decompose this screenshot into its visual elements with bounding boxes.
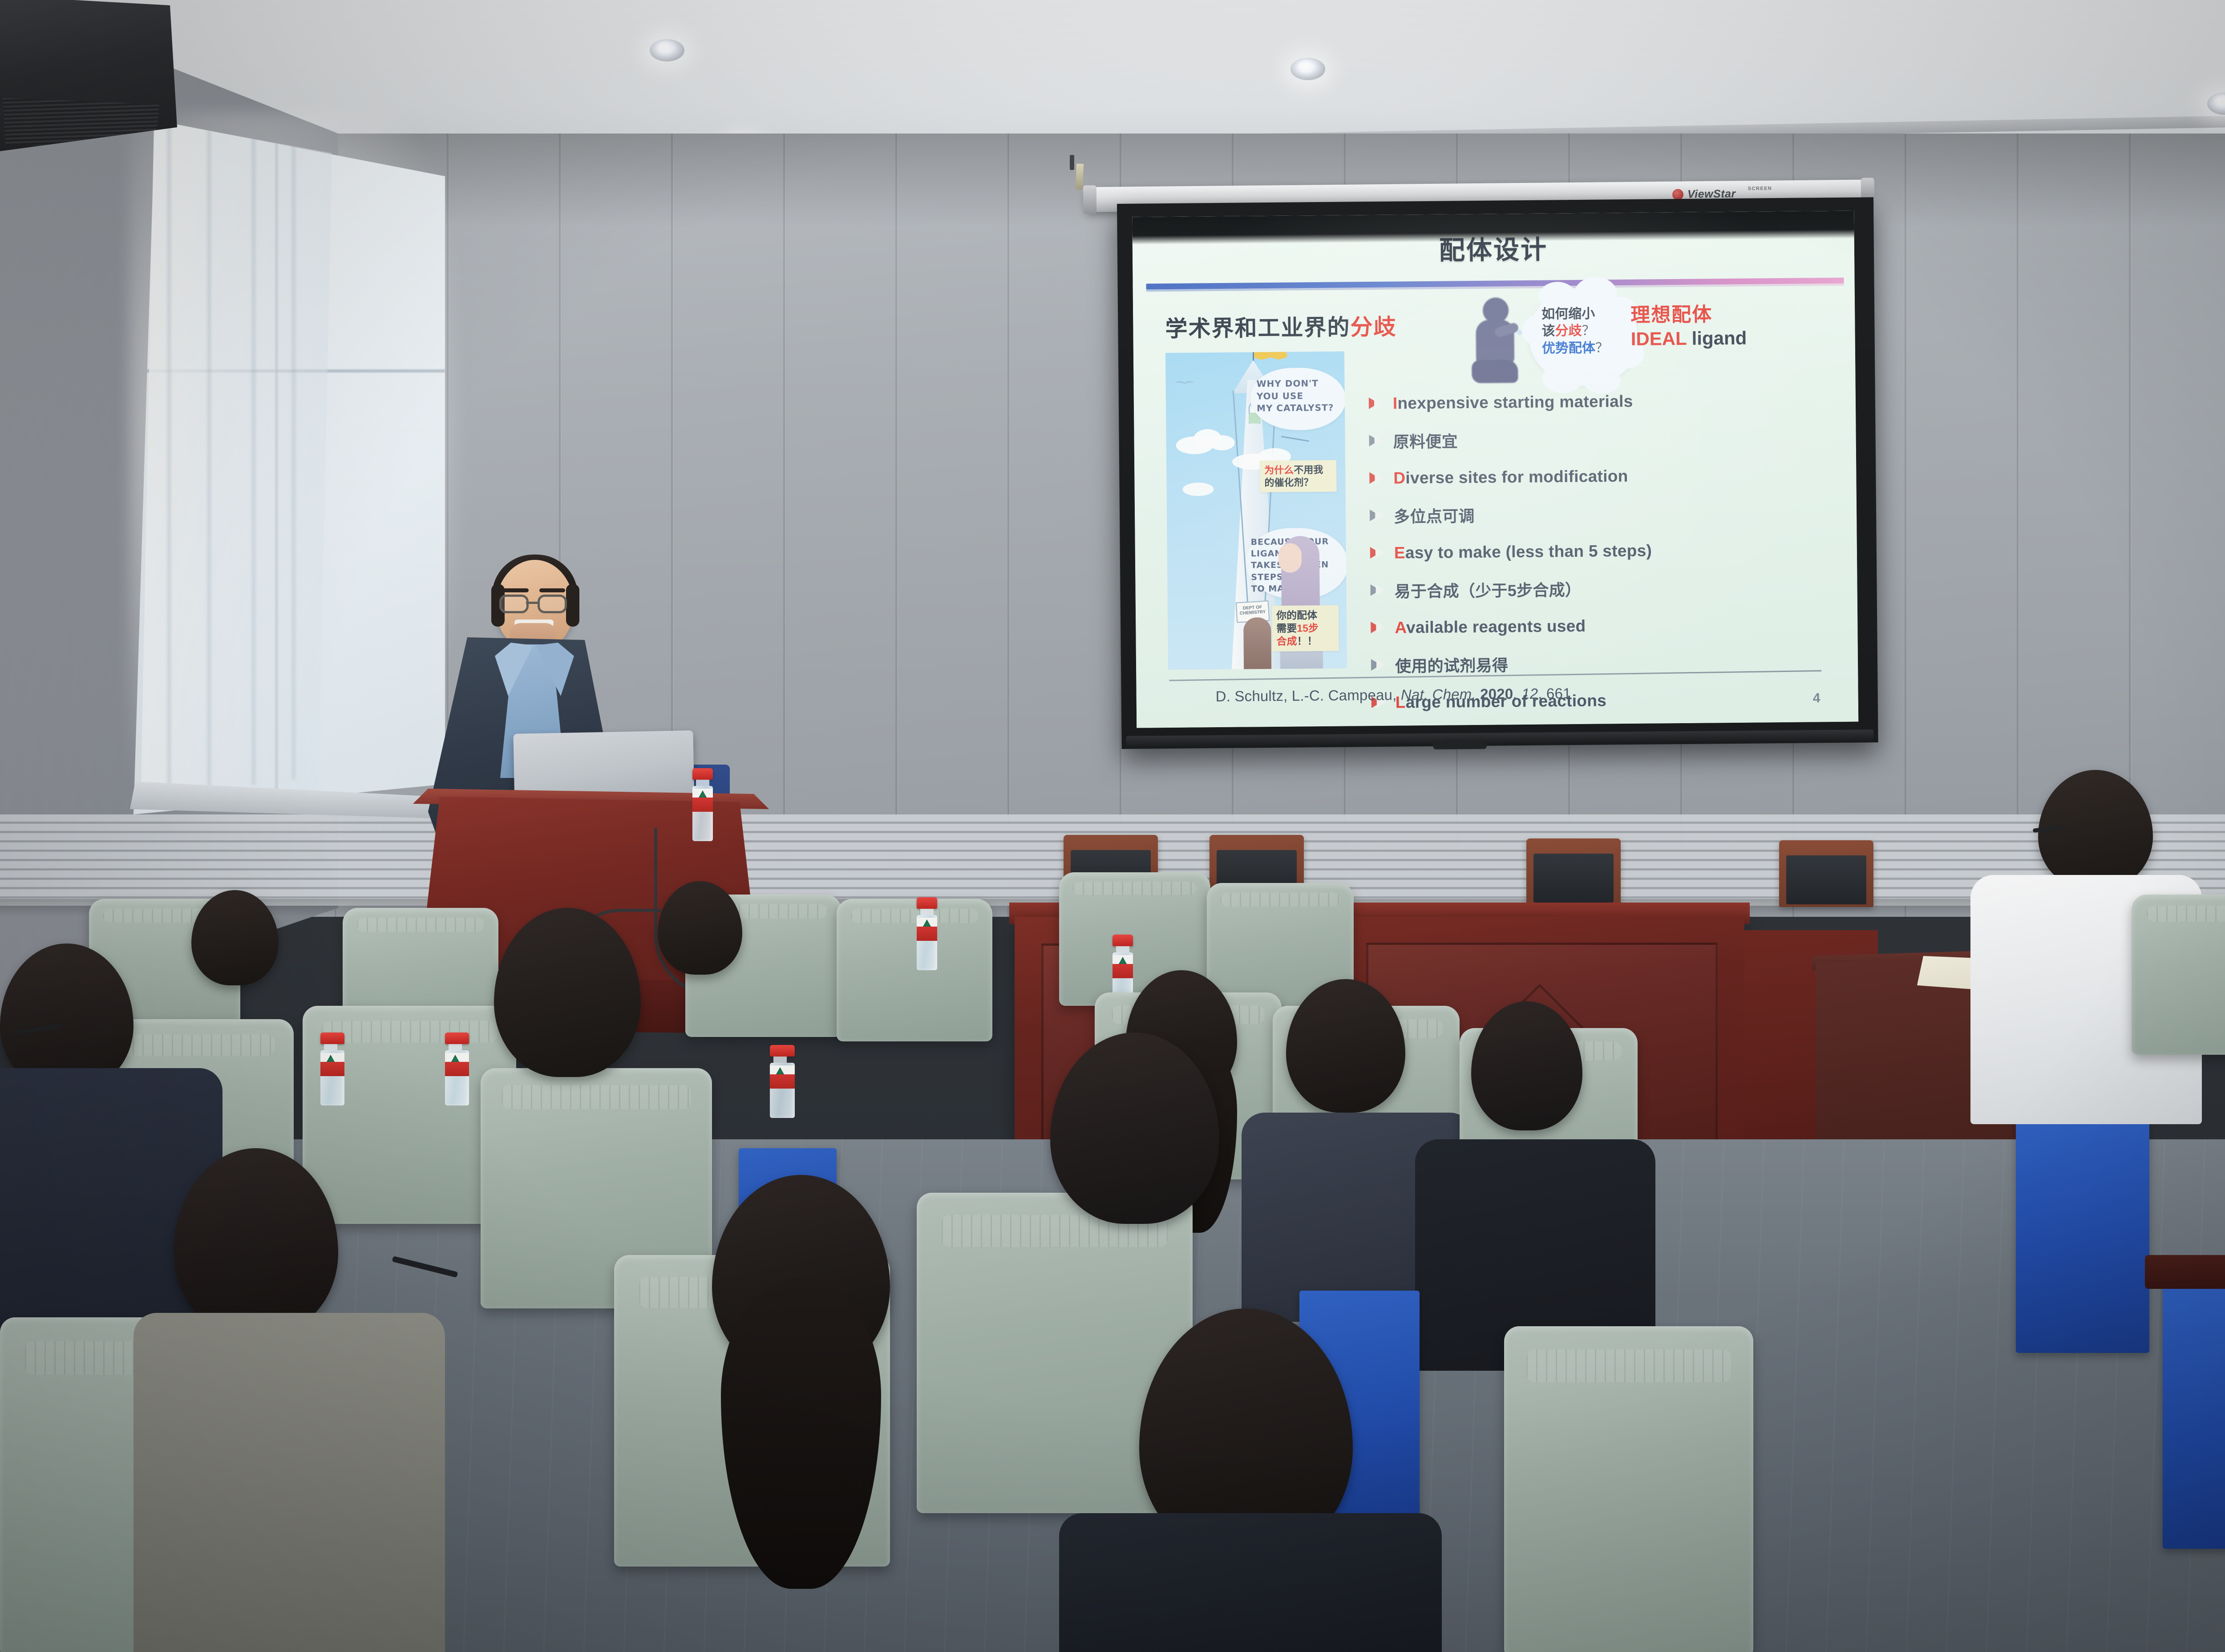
screen-hook: [1076, 164, 1084, 190]
water-bottle[interactable]: [320, 1032, 344, 1105]
bubble-line-1: 如何缩小: [1541, 305, 1629, 323]
slide-canvas: 配体设计 学术界和工业界的分歧: [1132, 211, 1858, 728]
bottle-body: [692, 786, 713, 841]
auditorium-seat[interactable]: [1504, 1326, 1753, 1652]
ceiling-downlight: [650, 39, 684, 61]
speech1-line1: WHY DON'T YOU USE: [1256, 377, 1342, 403]
bubble-line-2: 该分歧？: [1541, 322, 1629, 340]
arrow-marker-icon: [1363, 432, 1393, 450]
thought-bubble-text: 如何缩小 该分歧？ 优势配体？: [1541, 305, 1629, 357]
bullet-text: 使用的试剂易得: [1395, 652, 1509, 676]
ivory-tower-cartoon: WHY DON'T YOU USE MY CATALYST? 为什么不用我 的催…: [1165, 352, 1347, 670]
bottle-cap: [692, 768, 713, 780]
thinker-figure-icon: [1469, 297, 1523, 385]
ceiling-downlight: [1290, 58, 1325, 80]
heading-left-prefix: 学术界和工业界的: [1165, 315, 1350, 341]
bullet-row: Inexpensive starting materials: [1363, 381, 1839, 422]
bullet-row: Easy to make (less than 5 steps): [1365, 530, 1841, 572]
seat-side-panel: [2163, 1273, 2225, 1549]
bullet-text: Easy to make (less than 5 steps): [1394, 542, 1652, 563]
slide-heading-right: 理想配体 IDEAL ligand: [1630, 304, 1747, 350]
speech1-line2: MY CATALYST?: [1257, 402, 1342, 415]
water-bottle[interactable]: [917, 897, 937, 970]
caption2-line2: 需要15步: [1276, 622, 1334, 635]
arrow-marker-icon: [1363, 395, 1393, 413]
water-bottle[interactable]: [692, 768, 713, 841]
thought-bubble: 如何缩小 该分歧？ 优势配体？: [1528, 288, 1638, 386]
bullet-row: Diverse sites for modification: [1364, 456, 1840, 497]
bullet-row: Available reagents used: [1365, 605, 1841, 647]
glasses-bridge: [526, 602, 538, 604]
lecture-hall-photo: ViewStar SCREEN 配体设计 学术界和工业界的分歧: [0, 0, 2225, 1652]
seat-armrest: [2145, 1255, 2225, 1289]
caption2-line3: 合成！！: [1276, 635, 1334, 648]
arrow-marker-icon: [1365, 582, 1394, 600]
heading-left-highlight: 分歧: [1350, 315, 1396, 340]
bullet-text: Available reagents used: [1395, 617, 1586, 637]
viewstar-logo-icon: [1672, 189, 1683, 200]
audience-shoulders: [1059, 1513, 1442, 1652]
caption-box-2: 你的配体 需要15步 合成！！: [1272, 605, 1339, 652]
speech-bubble-1-text: WHY DON'T YOU USE MY CATALYST?: [1256, 377, 1342, 415]
arrow-marker-icon: [1365, 544, 1394, 563]
bullet-text: Inexpensive starting materials: [1393, 392, 1633, 413]
screen-bracket: [1070, 155, 1074, 170]
bullet-row: 原料便宜: [1363, 418, 1839, 460]
student-face: [1278, 543, 1302, 572]
speaker-glasses: [499, 595, 529, 613]
projection-screen: 配体设计 学术界和工业界的分歧: [1117, 197, 1878, 749]
water-bottle[interactable]: [445, 1032, 469, 1105]
bottle-label: [692, 789, 713, 812]
ideal-ligand-en: IDEAL ligand: [1630, 328, 1747, 350]
screen-weight: [1433, 742, 1487, 749]
caption2-line1: 你的配体: [1276, 609, 1334, 622]
speaker-brow: [503, 588, 529, 592]
slide-page-number: 4: [1813, 691, 1820, 706]
speaker-brow: [539, 588, 565, 592]
screen-surface: 配体设计 学术界和工业界的分歧: [1132, 211, 1858, 728]
slide-heading-left: 学术界和工业界的分歧: [1165, 309, 1397, 344]
bullet-text: 多位点可调: [1394, 503, 1475, 527]
bullet-text: Diverse sites for modification: [1393, 467, 1628, 488]
slide-citation: D. Schultz, L.-C. Campeau, Nat. Chem. 20…: [1216, 685, 1571, 705]
auditorium-seat[interactable]: [837, 899, 992, 1041]
arrow-marker-icon: [1365, 619, 1395, 637]
caption1-line2: 的催化剂？: [1264, 476, 1332, 489]
arrow-marker-icon: [1364, 470, 1393, 488]
seat-side-panel: [2016, 1099, 2149, 1353]
auditorium-seat[interactable]: [2132, 895, 2225, 1055]
speaker-glasses: [538, 595, 567, 613]
ideal-ligand-cn: 理想配体: [1630, 304, 1747, 327]
head-table-chair: [1779, 840, 1873, 925]
bubble-line-3: 优势配体？: [1542, 340, 1629, 357]
bullet-row: 易于合成（少于5步合成）: [1365, 568, 1841, 609]
screen-brand-sub: SCREEN: [1748, 186, 1772, 192]
bullet-row: 使用的试剂易得: [1366, 643, 1841, 684]
caption-box-1: 为什么不用我 的催化剂？: [1260, 460, 1337, 493]
bullet-text: 原料便宜: [1393, 429, 1458, 452]
bullet-row: 多位点可调: [1364, 493, 1840, 534]
flag-icon: [1254, 352, 1287, 360]
bullet-text: 易于合成（少于5步合成）: [1394, 577, 1581, 602]
wall-speaker-icon: [0, 0, 177, 151]
arrow-marker-icon: [1364, 507, 1394, 525]
window-curtain: [141, 121, 332, 806]
bird-icon: [1175, 381, 1195, 385]
water-bottle[interactable]: [770, 1045, 795, 1118]
caption1-line1: 为什么不用我: [1264, 464, 1332, 477]
speaker-hair-side: [566, 584, 579, 627]
tower-base: [1243, 617, 1271, 670]
audience-shoulders: [133, 1313, 445, 1652]
arrow-marker-icon: [1366, 656, 1395, 675]
